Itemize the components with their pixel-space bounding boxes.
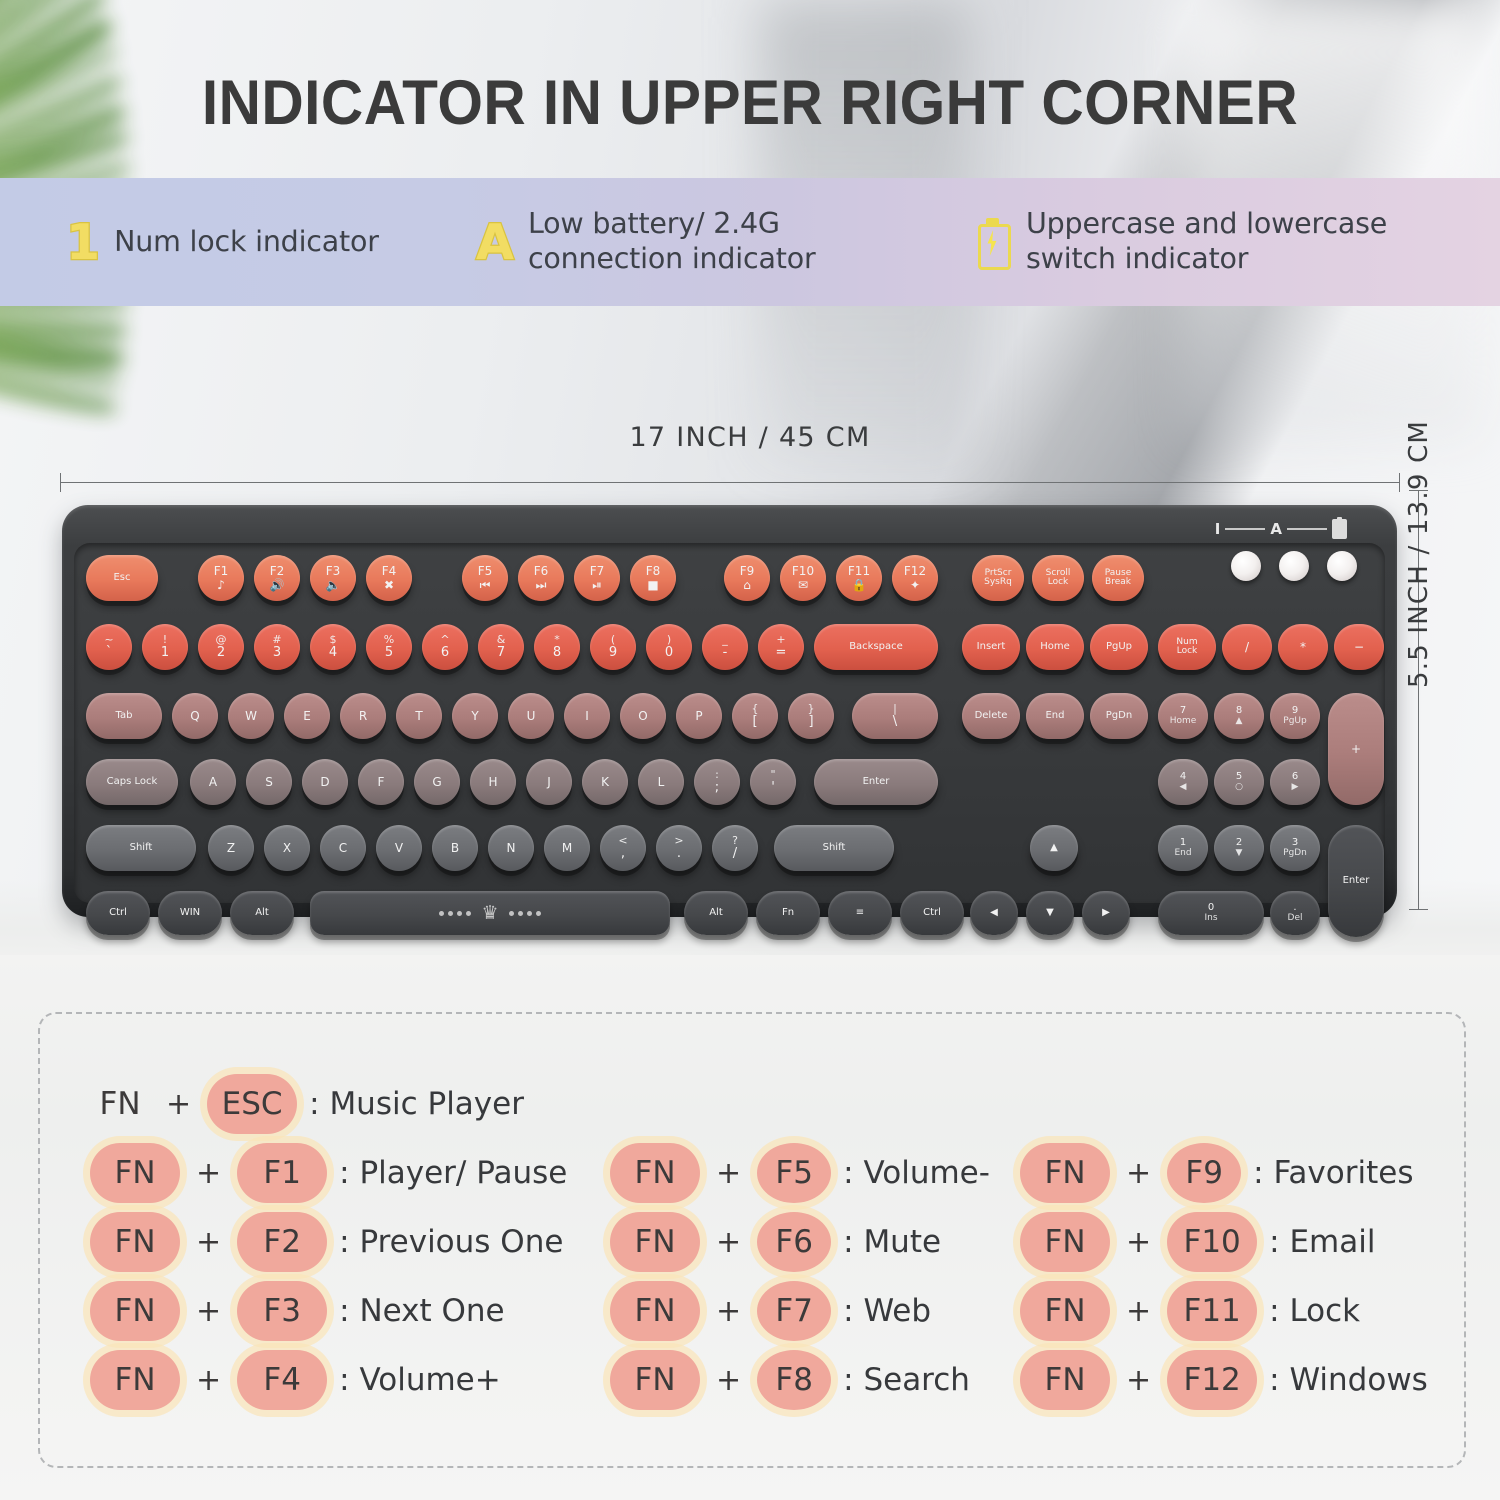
legend-description: : Music Player — [309, 1086, 524, 1122]
key-numlock[interactable]: NumLock — [1158, 624, 1216, 670]
key-esc[interactable]: Esc — [86, 555, 158, 601]
legend-description: : Search — [843, 1362, 970, 1398]
key-home[interactable]: Home — [1026, 624, 1084, 670]
legend-description: : Favorites — [1253, 1155, 1413, 1191]
key-slash[interactable]: ?/ — [712, 825, 758, 871]
key-enter[interactable]: Enter — [814, 759, 938, 805]
key-o[interactable]: O — [620, 693, 666, 739]
key-num-6[interactable]: ^6 — [422, 624, 468, 670]
legend-description: : Volume- — [843, 1155, 990, 1191]
key-num-8[interactable]: *8 — [534, 624, 580, 670]
key-printscreen[interactable]: PrtScrSysRq — [972, 555, 1024, 601]
legend-fn-key: FN — [90, 1281, 180, 1341]
key-numpad-8[interactable]: 8▲ — [1214, 693, 1264, 739]
legend-target-key: F2 — [237, 1212, 327, 1272]
key-numpad-7[interactable]: 7Home — [1158, 693, 1208, 739]
key-arrow-up[interactable]: ▲ — [1030, 825, 1078, 871]
key-insert[interactable]: Insert — [962, 624, 1020, 670]
key-quote[interactable]: "' — [750, 759, 796, 805]
legend-fn-key: FN — [1020, 1281, 1110, 1341]
legend-description: : Player/ Pause — [339, 1155, 567, 1191]
legend-plus-symbol: + — [1126, 1225, 1151, 1260]
indicator-legend-bar: 1 Num lock indicator A Low battery/ 2.4G… — [0, 178, 1500, 306]
key-q[interactable]: Q — [172, 693, 218, 739]
legend-fn-key: FN — [610, 1350, 700, 1410]
key-f11[interactable]: F11🔒 — [836, 555, 882, 601]
key-s[interactable]: S — [246, 759, 292, 805]
legend-row: FN+F3: Next One — [90, 1281, 505, 1341]
key-num-=[interactable]: += — [758, 624, 804, 670]
key-y[interactable]: Y — [452, 693, 498, 739]
legend-row: FN+F1: Player/ Pause — [90, 1143, 567, 1203]
key-backslash[interactable]: |\ — [852, 693, 938, 739]
key-numpad-5[interactable]: 5○ — [1214, 759, 1264, 805]
legend-plus-symbol: + — [716, 1225, 741, 1260]
legend-description: : Lock — [1269, 1293, 1360, 1329]
legend-target-key: F6 — [757, 1212, 831, 1272]
key-num-3[interactable]: #3 — [254, 624, 300, 670]
key-space[interactable]: ♛ — [310, 891, 670, 935]
key-bracket-right[interactable]: }] — [788, 693, 834, 739]
legend-plus-symbol: + — [196, 1294, 221, 1329]
legend-plus-symbol: + — [196, 1363, 221, 1398]
legend-plus-symbol: + — [196, 1225, 221, 1260]
key-c[interactable]: C — [320, 825, 366, 871]
legend-plus-symbol: + — [166, 1087, 191, 1122]
shortcut-legend-box: FN+ESC: Music PlayerFN+F1: Player/ Pause… — [38, 1012, 1466, 1468]
key-num-2[interactable]: @2 — [198, 624, 244, 670]
key-f5[interactable]: F5⏮ — [462, 555, 508, 601]
key-num-9[interactable]: (9 — [590, 624, 636, 670]
key-numpad-minus[interactable]: − — [1334, 624, 1384, 670]
legend-row: FN+F11: Lock — [1020, 1281, 1360, 1341]
legend-plus-symbol: + — [196, 1156, 221, 1191]
height-dimension-label: 5.5 INCH / 13.9 CM — [1404, 420, 1434, 688]
key-d[interactable]: D — [302, 759, 348, 805]
key-pageup[interactable]: PgUp — [1090, 624, 1148, 670]
legend-description: : Email — [1269, 1224, 1375, 1260]
key-t[interactable]: T — [396, 693, 442, 739]
legend-fn-key: FN — [90, 1212, 180, 1272]
key-u[interactable]: U — [508, 693, 554, 739]
key-num-7[interactable]: &7 — [478, 624, 524, 670]
indicator-item-numlock: 1 Num lock indicator — [66, 218, 466, 267]
key-f3[interactable]: F3🔈 — [310, 555, 356, 601]
indicator-label-line1: Low battery/ 2.4G — [528, 207, 816, 242]
key-ctrl-right[interactable]: Ctrl — [900, 891, 964, 935]
width-dimension-label: 17 INCH / 45 CM — [0, 422, 1500, 453]
legend-row: FN+F8: Search — [610, 1350, 970, 1410]
key-pagedown[interactable]: PgDn — [1090, 693, 1148, 739]
key-p[interactable]: P — [676, 693, 722, 739]
key-numpad-1[interactable]: 1End — [1158, 825, 1208, 871]
numlock-digit-icon: 1 — [66, 218, 100, 267]
key-alt-left[interactable]: Alt — [230, 891, 294, 935]
key-arrow-right[interactable]: ▶ — [1082, 891, 1130, 935]
key-fn[interactable]: Fn — [756, 891, 820, 935]
indicator-item-battery-connection: A Low battery/ 2.4G connection indicator — [476, 207, 976, 277]
key-b[interactable]: B — [432, 825, 478, 871]
key-end[interactable]: End — [1026, 693, 1084, 739]
indicator-label-case-switch: Uppercase and lowercase switch indicator — [1026, 207, 1387, 277]
width-dimension-line — [60, 482, 1400, 483]
legend-target-key: F12 — [1167, 1350, 1257, 1410]
key-ctrl-left[interactable]: Ctrl — [86, 891, 150, 935]
key-numpad-6[interactable]: 6▶ — [1270, 759, 1320, 805]
product-infographic: INDICATOR IN UPPER RIGHT CORNER 1 Num lo… — [0, 0, 1500, 1500]
key-numpad-0[interactable]: 0Ins — [1158, 891, 1264, 935]
legend-fn-key: FN — [90, 1350, 180, 1410]
key-f9[interactable]: F9⌂ — [724, 555, 770, 601]
legend-description: : Volume+ — [339, 1362, 501, 1398]
key-numpad-divide[interactable]: / — [1222, 624, 1272, 670]
capslock-letter-icon: A — [476, 218, 514, 267]
key-a[interactable]: A — [190, 759, 236, 805]
indicator-label-line2: connection indicator — [528, 242, 816, 277]
legend-description: : Previous One — [339, 1224, 563, 1260]
indicator-label-battery-connection: Low battery/ 2.4G connection indicator — [528, 207, 816, 277]
legend-target-key: ESC — [207, 1074, 297, 1134]
key-l[interactable]: L — [638, 759, 684, 805]
legend-fn-key: FN — [610, 1281, 700, 1341]
legend-plus-symbol: + — [716, 1156, 741, 1191]
key-semicolon[interactable]: :; — [694, 759, 740, 805]
key-num-5[interactable]: %5 — [366, 624, 412, 670]
key-g[interactable]: G — [414, 759, 460, 805]
key-f10[interactable]: F10✉ — [780, 555, 826, 601]
legend-fn-key: FN — [1020, 1212, 1110, 1272]
legend-row: FN+F6: Mute — [610, 1212, 941, 1272]
legend-target-key: F11 — [1167, 1281, 1257, 1341]
key-num-1[interactable]: !1 — [142, 624, 188, 670]
width-dimension-text: 17 INCH / 45 CM — [629, 422, 870, 453]
key-backspace[interactable]: Backspace — [814, 624, 938, 670]
indicator-label-line2: switch indicator — [1026, 242, 1387, 277]
key-arrow-left[interactable]: ◀ — [970, 891, 1018, 935]
legend-fn-key: FN — [610, 1212, 700, 1272]
key-win[interactable]: WIN — [158, 891, 222, 935]
key-numpad-enter[interactable]: Enter — [1328, 825, 1384, 937]
key-tab[interactable]: Tab — [86, 693, 162, 739]
key-f12[interactable]: F12✦ — [892, 555, 938, 601]
legend-description: : Web — [843, 1293, 931, 1329]
indicator-label-line1: Num lock indicator — [114, 225, 379, 260]
key-shift-left[interactable]: Shift — [86, 825, 196, 871]
legend-plus-symbol: + — [1126, 1294, 1151, 1329]
key-n[interactable]: N — [488, 825, 534, 871]
key-m[interactable]: M — [544, 825, 590, 871]
key-e[interactable]: E — [284, 693, 330, 739]
legend-target-key: F1 — [237, 1143, 327, 1203]
legend-fn-key: FN — [610, 1143, 700, 1203]
key-numpad-3[interactable]: 3PgDn — [1270, 825, 1320, 871]
legend-fn-key: FN — [1020, 1143, 1110, 1203]
key-f2[interactable]: F2🔊 — [254, 555, 300, 601]
key-w[interactable]: W — [228, 693, 274, 739]
legend-target-key: F5 — [757, 1143, 831, 1203]
legend-fn-key: FN — [90, 1143, 180, 1203]
legend-target-key: F4 — [237, 1350, 327, 1410]
key-num-`[interactable]: ~` — [86, 624, 132, 670]
key-num--[interactable]: _- — [702, 624, 748, 670]
key-i[interactable]: I — [564, 693, 610, 739]
key-f8[interactable]: F8■ — [630, 555, 676, 601]
key-period[interactable]: >. — [656, 825, 702, 871]
key-k[interactable]: K — [582, 759, 628, 805]
legend-row: FN+F12: Windows — [1020, 1350, 1428, 1410]
indicator-item-case-switch: Uppercase and lowercase switch indicator — [976, 207, 1456, 277]
key-f7[interactable]: F7⏯ — [574, 555, 620, 601]
legend-row: FN+F2: Previous One — [90, 1212, 563, 1272]
keycap-layout: EscF1♪F2🔊F3🔈F4✖F5⏮F6⏭F7⏯F8■F9⌂F10✉F11🔒F1… — [62, 505, 1397, 917]
key-f6[interactable]: F6⏭ — [518, 555, 564, 601]
legend-row: FN+F5: Volume- — [610, 1143, 990, 1203]
key-num-0[interactable]: )0 — [646, 624, 692, 670]
legend-row: FN+F7: Web — [610, 1281, 931, 1341]
key-shift-right[interactable]: Shift — [774, 825, 894, 871]
legend-description: : Mute — [843, 1224, 941, 1260]
legend-row: FN+F9: Favorites — [1020, 1143, 1413, 1203]
legend-fn-key: FN — [90, 1074, 150, 1134]
key-arrow-down[interactable]: ▼ — [1026, 891, 1074, 935]
key-f4[interactable]: F4✖ — [366, 555, 412, 601]
legend-plus-symbol: + — [716, 1363, 741, 1398]
key-f1[interactable]: F1♪ — [198, 555, 244, 601]
key-numpad-2[interactable]: 2▼ — [1214, 825, 1264, 871]
legend-row: FN+F10: Email — [1020, 1212, 1375, 1272]
legend-plus-symbol: + — [1126, 1363, 1151, 1398]
legend-description: : Windows — [1269, 1362, 1428, 1398]
indicator-label-line1: Uppercase and lowercase — [1026, 207, 1387, 242]
legend-plus-symbol: + — [1126, 1156, 1151, 1191]
legend-fn-key: FN — [1020, 1350, 1110, 1410]
legend-target-key: F8 — [757, 1350, 831, 1410]
key-r[interactable]: R — [340, 693, 386, 739]
key-numpad-multiply[interactable]: * — [1278, 624, 1328, 670]
key-numpad-9[interactable]: 9PgUp — [1270, 693, 1320, 739]
legend-row: FN+ESC: Music Player — [90, 1074, 524, 1134]
key-x[interactable]: X — [264, 825, 310, 871]
legend-target-key: F10 — [1167, 1212, 1257, 1272]
key-v[interactable]: V — [376, 825, 422, 871]
legend-row: FN+F4: Volume+ — [90, 1350, 501, 1410]
legend-plus-symbol: + — [716, 1294, 741, 1329]
key-delete[interactable]: Delete — [962, 693, 1020, 739]
legend-description: : Next One — [339, 1293, 505, 1329]
keyboard-product-image: I A EscF1♪F2🔊F3🔈F4✖F5⏮F6⏭F7⏯F8■F9⌂F10✉F1… — [62, 505, 1397, 917]
page-title: INDICATOR IN UPPER RIGHT CORNER — [53, 48, 1448, 158]
battery-bolt-icon — [976, 217, 1010, 267]
key-numpad-decimal[interactable]: .Del — [1270, 891, 1320, 935]
indicator-label-numlock: Num lock indicator — [114, 225, 379, 260]
key-z[interactable]: Z — [208, 825, 254, 871]
key-menu[interactable]: ≡ — [828, 891, 892, 935]
key-bracket-left[interactable]: {[ — [732, 693, 778, 739]
key-num-4[interactable]: $4 — [310, 624, 356, 670]
key-pausebreak[interactable]: PauseBreak — [1092, 555, 1144, 601]
key-j[interactable]: J — [526, 759, 572, 805]
legend-target-key: F9 — [1167, 1143, 1241, 1203]
key-f[interactable]: F — [358, 759, 404, 805]
key-numpad-plus[interactable]: + — [1328, 693, 1384, 805]
key-scrolllock[interactable]: ScrollLock — [1032, 555, 1084, 601]
key-h[interactable]: H — [470, 759, 516, 805]
key-numpad-4[interactable]: 4◀ — [1158, 759, 1208, 805]
key-alt-right[interactable]: Alt — [684, 891, 748, 935]
legend-target-key: F3 — [237, 1281, 327, 1341]
key-capslock[interactable]: Caps Lock — [86, 759, 178, 805]
key-comma[interactable]: <, — [600, 825, 646, 871]
legend-target-key: F7 — [757, 1281, 831, 1341]
